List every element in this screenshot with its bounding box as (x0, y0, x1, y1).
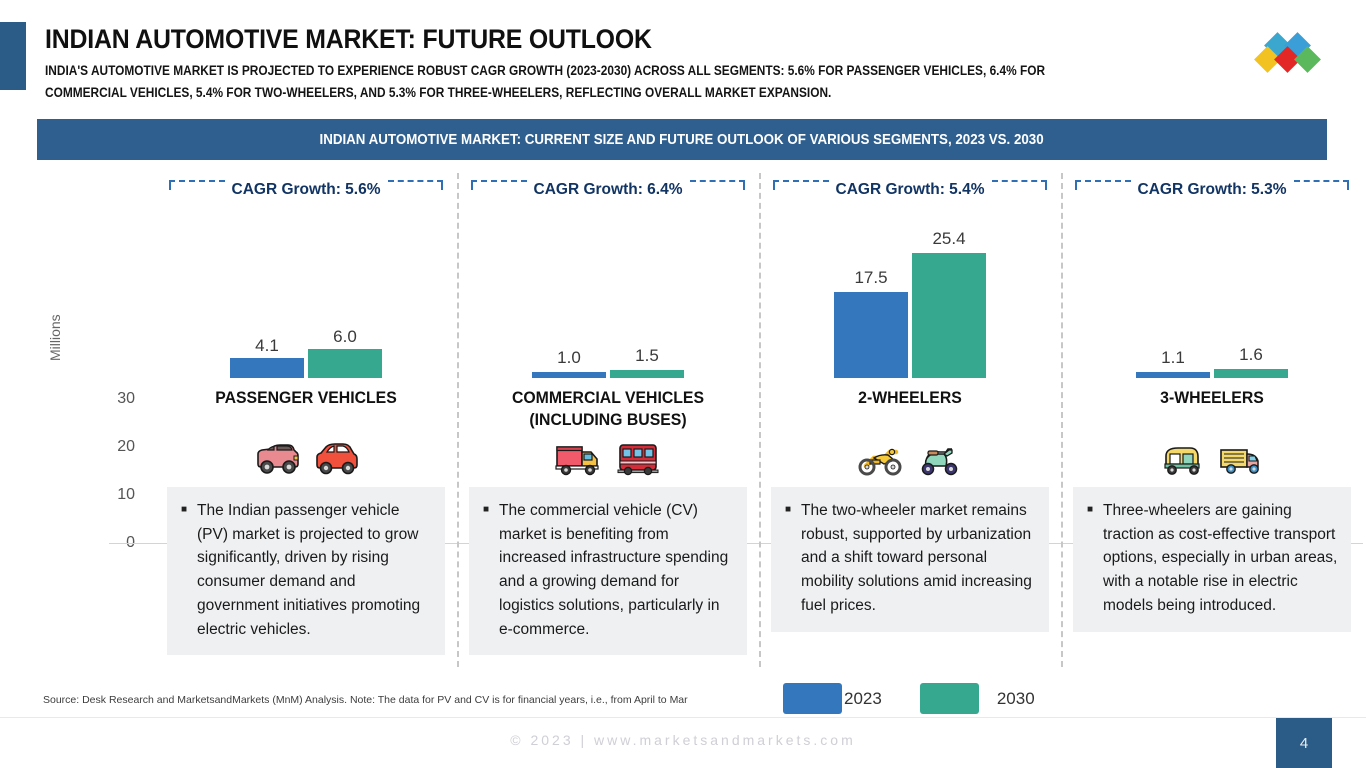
auto-rickshaw-icon (1156, 440, 1208, 480)
segment-icons (759, 433, 1061, 487)
segment-panel-commercial-vehicles: CAGR Growth: 6.4% 1.0 1.5 (457, 165, 759, 675)
bar-2030[interactable] (912, 253, 986, 378)
bar-group-2030: 6.0 (308, 210, 382, 378)
bar-plot: 1.0 1.5 (457, 210, 759, 378)
cagr-bracket-right (1294, 180, 1350, 190)
segment-panel-2-wheelers: CAGR Growth: 5.4% 17.5 25.4 (759, 165, 1061, 675)
cagr-bracket-right (690, 180, 746, 190)
bar-value-2030: 6.0 (308, 327, 382, 347)
cagr-bracket: CAGR Growth: 5.4% (773, 179, 1047, 201)
page-title: INDIAN AUTOMOTIVE MARKET: FUTURE OUTLOOK (45, 24, 652, 55)
bar-group-2023: 1.1 (1136, 210, 1210, 378)
legend-swatch-2023 (783, 683, 842, 714)
bar-group-2030: 25.4 (912, 210, 986, 378)
y-axis-label: Millions (47, 314, 63, 361)
cagr-bracket: CAGR Growth: 5.3% (1075, 179, 1349, 201)
segment-name: 3-WHEELERS (1075, 387, 1348, 409)
segment-icons (1061, 433, 1363, 487)
marketsandmarkets-diamond-logo (1254, 32, 1330, 78)
segment-note: ■ The two-wheeler market remains robust,… (771, 487, 1049, 632)
bar-value-2023: 1.0 (532, 348, 606, 368)
bar-value-2030: 1.6 (1214, 345, 1288, 365)
page-number-badge: 4 (1276, 718, 1332, 768)
segment-note: ■ The commercial vehicle (CV) market is … (469, 487, 747, 655)
cargo-rickshaw-icon (1216, 440, 1268, 480)
cagr-bracket: CAGR Growth: 5.6% (169, 179, 443, 201)
segment-note: ■ Three-wheelers are gaining traction as… (1073, 487, 1351, 632)
bar-plot: 4.1 6.0 (155, 210, 457, 378)
suv-icon (250, 440, 302, 480)
segment-note-text: The commercial vehicle (CV) market is be… (481, 499, 735, 641)
bar-group-2023: 17.5 (834, 210, 908, 378)
bar-2023[interactable] (230, 358, 304, 378)
legend-label-2023: 2023 (842, 689, 920, 709)
chart-legend: 2023 2030 (783, 683, 1035, 714)
segment-name: COMMERCIAL VEHICLES (INCLUDING BUSES) (471, 387, 744, 432)
scooter-icon (914, 440, 966, 480)
bar-2030[interactable] (308, 349, 382, 378)
segment-name-line1: 3-WHEELERS (1160, 388, 1264, 407)
bar-group-2023: 1.0 (532, 210, 606, 378)
y-tick-20: 20 (95, 438, 135, 456)
bar-value-2023: 1.1 (1136, 348, 1210, 368)
bar-group-2030: 1.5 (610, 210, 684, 378)
segment-name-line2: (INCLUDING BUSES) (529, 410, 686, 429)
legend-label-2030: 2030 (979, 689, 1035, 709)
segment-icons (457, 433, 759, 487)
segment-name-line1: 2-WHEELERS (858, 388, 962, 407)
segment-name: 2-WHEELERS (773, 387, 1046, 409)
bar-plot: 17.5 25.4 (759, 210, 1061, 378)
segment-name-line1: COMMERCIAL VEHICLES (512, 388, 704, 407)
source-note: Source: Desk Research and MarketsandMark… (43, 694, 688, 706)
cagr-bracket-right (992, 180, 1048, 190)
y-tick-10: 10 (95, 486, 135, 504)
bar-group-2030: 1.6 (1214, 210, 1288, 378)
bar-value-2030: 1.5 (610, 346, 684, 366)
segment-panel-3-wheelers: CAGR Growth: 5.3% 1.1 1.6 (1061, 165, 1363, 675)
slide: INDIAN AUTOMOTIVE MARKET: FUTURE OUTLOOK… (0, 0, 1366, 768)
segment-panels: CAGR Growth: 5.6% 4.1 6.0 (155, 165, 1363, 675)
y-tick-30: 30 (95, 390, 135, 408)
bullet-icon: ■ (483, 502, 489, 517)
segment-icons (155, 433, 457, 487)
copyright-text: © 2023 | www.marketsandmarkets.com (0, 732, 1366, 748)
bar-2030[interactable] (1214, 369, 1288, 378)
car-icon (310, 440, 362, 480)
segment-name: PASSENGER VEHICLES (169, 387, 442, 409)
footer-divider (0, 717, 1366, 718)
title-accent-bar (0, 22, 26, 90)
cagr-bracket-left (1075, 180, 1131, 190)
bar-2030[interactable] (610, 370, 684, 378)
bar-2023[interactable] (532, 372, 606, 378)
bar-value-2023: 17.5 (834, 268, 908, 288)
cagr-bracket-left (169, 180, 225, 190)
segment-panel-passenger-vehicles: CAGR Growth: 5.6% 4.1 6.0 (155, 165, 457, 675)
cagr-label: CAGR Growth: 5.6% (225, 181, 388, 199)
bullet-icon: ■ (785, 502, 791, 517)
bus-icon (612, 440, 664, 480)
chart: Millions 30 20 10 0 CAGR Growth: 5.6% 4.… (37, 165, 1327, 675)
bar-2023[interactable] (834, 292, 908, 378)
segment-name-line1: PASSENGER VEHICLES (215, 388, 397, 407)
cagr-bracket-left (471, 180, 527, 190)
cagr-label: CAGR Growth: 5.4% (829, 181, 992, 199)
bar-plot: 1.1 1.6 (1061, 210, 1363, 378)
bar-group-2023: 4.1 (230, 210, 304, 378)
cagr-label: CAGR Growth: 5.3% (1131, 181, 1294, 199)
chart-banner-text: INDIAN AUTOMOTIVE MARKET: CURRENT SIZE A… (320, 132, 1044, 148)
page-subtitle: INDIA'S AUTOMOTIVE MARKET IS PROJECTED T… (45, 60, 1083, 105)
motorcycle-icon (854, 440, 906, 480)
bar-value-2023: 4.1 (230, 336, 304, 356)
segment-note: ■ The Indian passenger vehicle (PV) mark… (167, 487, 445, 655)
bar-value-2030: 25.4 (912, 229, 986, 249)
cagr-bracket: CAGR Growth: 6.4% (471, 179, 745, 201)
bar-2023[interactable] (1136, 372, 1210, 378)
legend-swatch-2030 (920, 683, 979, 714)
cagr-bracket-right (388, 180, 444, 190)
bullet-icon: ■ (181, 502, 187, 517)
cagr-bracket-left (773, 180, 829, 190)
chart-banner: INDIAN AUTOMOTIVE MARKET: CURRENT SIZE A… (37, 119, 1327, 160)
segment-note-text: The Indian passenger vehicle (PV) market… (179, 499, 433, 641)
segment-note-text: Three-wheelers are gaining traction as c… (1085, 499, 1339, 618)
cagr-label: CAGR Growth: 6.4% (527, 181, 690, 199)
delivery-truck-icon (552, 440, 604, 480)
bullet-icon: ■ (1087, 502, 1093, 517)
segment-note-text: The two-wheeler market remains robust, s… (783, 499, 1037, 618)
